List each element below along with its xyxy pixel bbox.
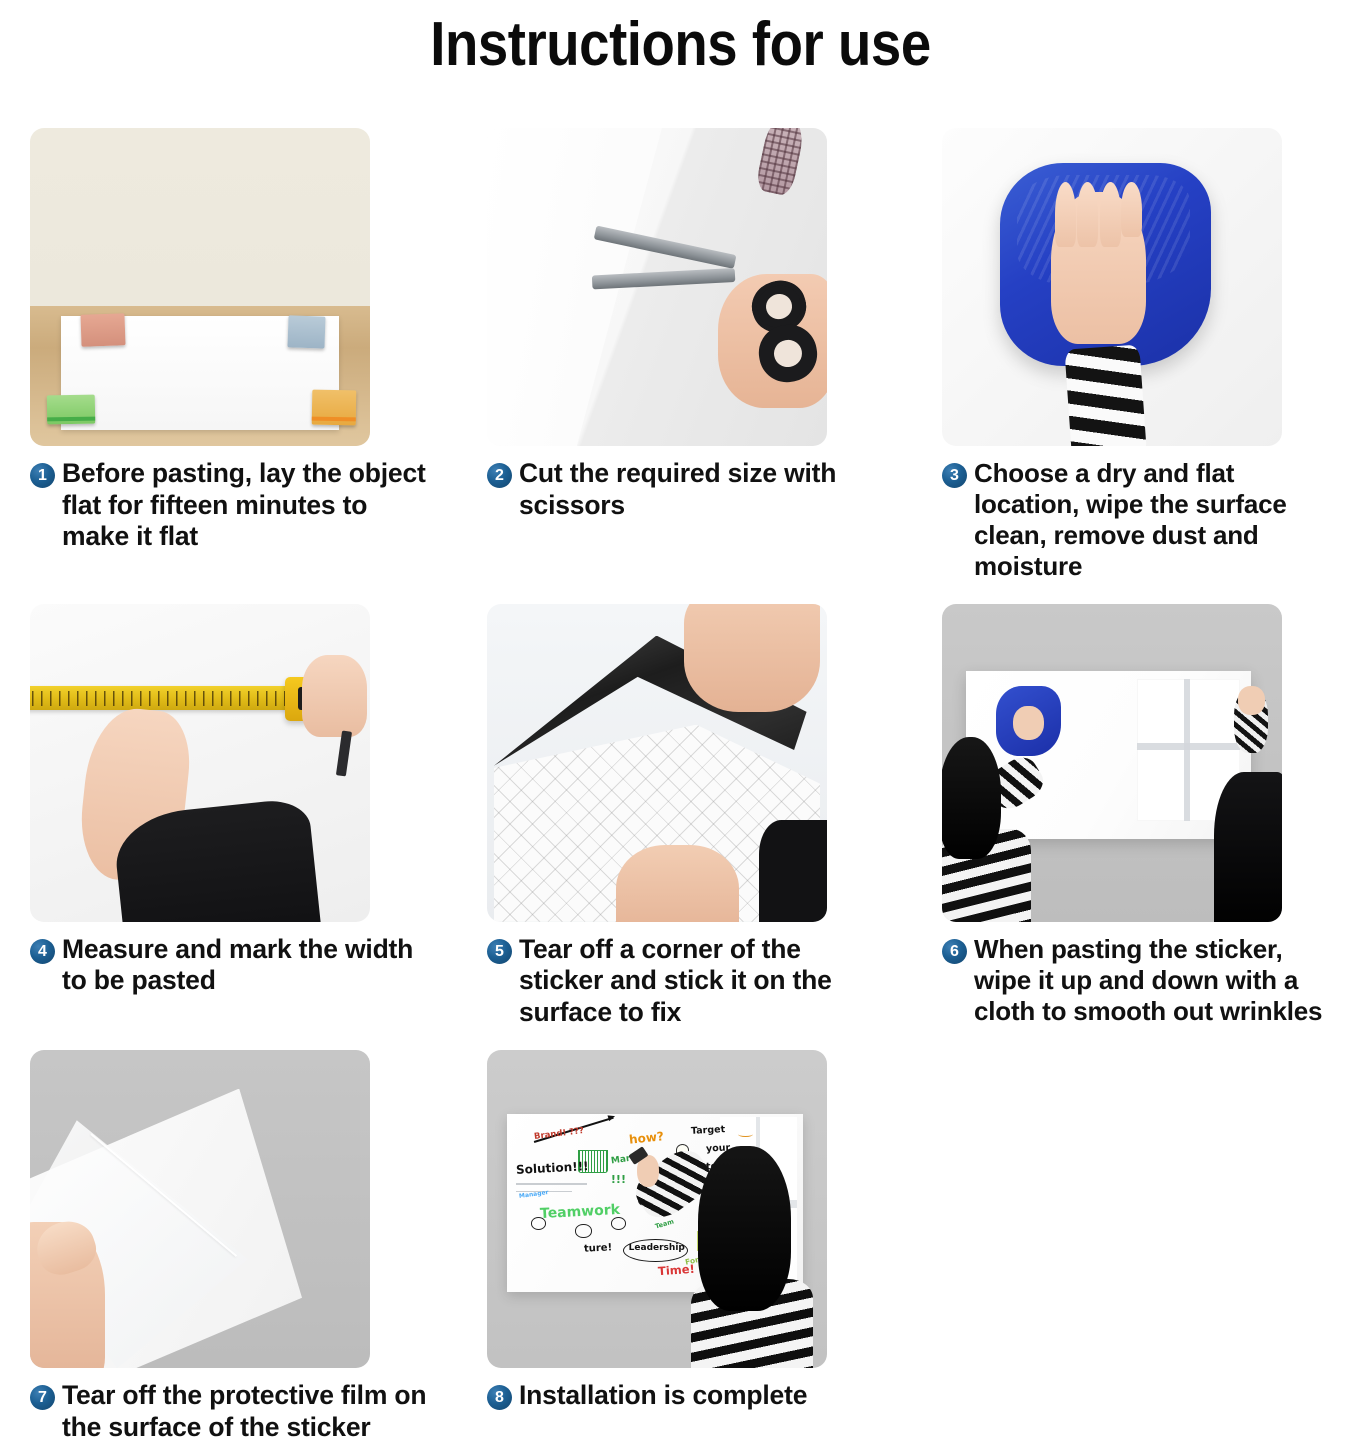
pencil — [336, 730, 352, 776]
note-target: Target — [691, 1126, 726, 1137]
note-teamwork: Teamwork — [540, 1203, 621, 1221]
step-number-badge-2: 2 — [487, 463, 512, 488]
finger — [1121, 182, 1142, 237]
step-card-1: 1 Before pasting, lay the object flat fo… — [0, 128, 455, 604]
step-caption-1: 1 Before pasting, lay the object flat fo… — [30, 458, 437, 553]
tape-measure-blade — [30, 686, 295, 710]
step-caption-8: 8 Installation is complete — [487, 1380, 892, 1412]
step-caption-5: 5 Tear off a corner of the sticker and s… — [487, 934, 892, 1029]
photo-peeling-sticker-corner — [487, 604, 827, 922]
dark-sleeve — [759, 820, 827, 922]
note-team: Team — [655, 1218, 675, 1230]
photo-two-people-applying-board — [942, 604, 1282, 922]
step-number-badge-6: 6 — [942, 939, 967, 964]
photo-cutting-with-scissors — [487, 128, 827, 446]
step-card-4: 4 Measure and mark the width to be paste… — [0, 604, 455, 1051]
step-text-1: Before pasting, lay the object flat for … — [62, 458, 437, 553]
stick-figure-head — [575, 1224, 591, 1237]
step-text-8: Installation is complete — [519, 1380, 807, 1412]
striped-sleeve — [1064, 345, 1146, 446]
step-card-8: Brand! ??? Solution!!! Market how? !!! ?… — [455, 1050, 910, 1449]
book-pink — [80, 313, 125, 346]
step-card-7: 7 Tear off the protective film on the su… — [0, 1050, 455, 1449]
step-card-6: 6 When pasting the sticker, wipe it up a… — [910, 604, 1361, 1051]
step-card-empty — [910, 1050, 1361, 1449]
step-card-3: 3 Choose a dry and flat location, wipe t… — [910, 128, 1361, 604]
note-how: how? — [628, 1130, 664, 1146]
note-brand: Brand! ??? — [534, 1127, 585, 1142]
book-orange — [312, 390, 357, 426]
step-caption-3: 3 Choose a dry and flat location, wipe t… — [942, 458, 1343, 582]
page-title: Instructions for use — [82, 0, 1280, 77]
finger — [1077, 182, 1098, 246]
photo-finished-whiteboard: Brand! ??? Solution!!! Market how? !!! ?… — [487, 1050, 827, 1368]
step-caption-4: 4 Measure and mark the width to be paste… — [30, 934, 437, 997]
step-number-badge-7: 7 — [30, 1385, 55, 1410]
step-text-4: Measure and mark the width to be pasted — [62, 934, 437, 997]
book-blue — [288, 315, 326, 348]
note-ture: ture! — [584, 1243, 613, 1254]
step-text-6: When pasting the sticker, wipe it up and… — [974, 934, 1343, 1027]
step-text-3: Choose a dry and flat location, wipe the… — [974, 458, 1343, 582]
person-writing — [691, 1146, 813, 1369]
book-green — [47, 395, 95, 424]
step-number-badge-8: 8 — [487, 1385, 512, 1410]
hand-left-person — [1013, 706, 1044, 741]
step-card-5: 5 Tear off a corner of the sticker and s… — [455, 604, 910, 1051]
step-caption-6: 6 When pasting the sticker, wipe it up a… — [942, 934, 1343, 1027]
hand-upper — [684, 604, 820, 712]
step-text-7: Tear off the protective film on the surf… — [62, 1380, 437, 1443]
photo-desk-flat-sheet — [30, 128, 370, 446]
step-number-badge-5: 5 — [487, 939, 512, 964]
hand-right-person — [1238, 686, 1265, 715]
step-text-5: Tear off a corner of the sticker and sti… — [519, 934, 892, 1029]
note-exclamation: !!! — [611, 1174, 626, 1185]
note-time: Time! — [658, 1264, 696, 1278]
note-solution: Solution!!! — [516, 1160, 589, 1176]
photo-wiping-wall-blue-cloth — [942, 128, 1282, 446]
photo-peeling-protective-film — [30, 1050, 370, 1368]
plaid-fabric — [755, 128, 807, 198]
instructions-page: Instructions for use 1 Before pasting, l… — [0, 0, 1361, 1449]
step-number-badge-3: 3 — [942, 463, 967, 488]
hand-lower — [616, 845, 738, 921]
step-text-2: Cut the required size with scissors — [519, 458, 892, 521]
hand — [1051, 192, 1146, 345]
steps-grid: 1 Before pasting, lay the object flat fo… — [0, 128, 1361, 1449]
photo-tape-measure-wall — [30, 604, 370, 922]
smiley-icon — [738, 1132, 753, 1137]
step-number-badge-1: 1 — [30, 463, 55, 488]
stick-figure-head — [611, 1217, 626, 1229]
finger — [1055, 182, 1076, 246]
long-hair — [698, 1146, 791, 1311]
step-caption-2: 2 Cut the required size with scissors — [487, 458, 892, 521]
note-manager: Manager — [519, 1190, 549, 1200]
finger — [1100, 182, 1121, 246]
step-caption-7: 7 Tear off the protective film on the su… — [30, 1380, 437, 1443]
person-left — [942, 737, 1054, 921]
step-card-2: 2 Cut the required size with scissors — [455, 128, 910, 604]
hand-right — [302, 655, 367, 738]
step-number-badge-4: 4 — [30, 939, 55, 964]
long-hair — [942, 737, 1001, 859]
underline — [516, 1183, 587, 1184]
note-leadership: Leadership — [629, 1244, 685, 1253]
person-right — [1214, 772, 1282, 921]
